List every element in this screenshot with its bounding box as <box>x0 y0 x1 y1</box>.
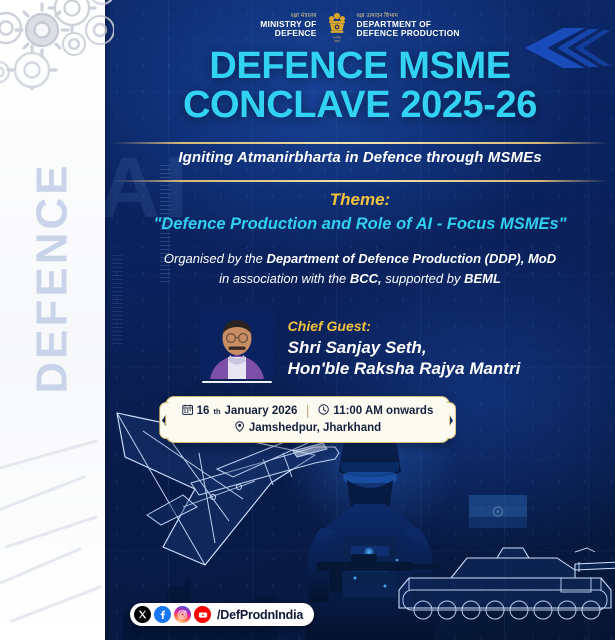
ashoka-emblem-icon: सत्यमेव जयते <box>324 7 350 45</box>
gold-divider-top <box>112 142 609 144</box>
event-date-day: 16 <box>197 405 210 417</box>
org-assoc-prefix: in association with the <box>219 271 350 286</box>
org-beml: BEML <box>464 271 501 286</box>
chief-guest-portrait-icon <box>200 305 274 383</box>
clock-icon <box>318 404 329 418</box>
subtitle: Igniting Atmanirbharta in Defence throug… <box>105 149 615 166</box>
org-supported: supported by <box>382 271 464 286</box>
left-side-band: DEFENCE <box>0 0 105 640</box>
social-handle-bar[interactable]: /DefProdnIndia <box>130 603 314 626</box>
chief-guest-label: Chief Guest: <box>288 318 521 334</box>
event-location-text: Jamshedpur, Jharkhand <box>249 422 381 434</box>
battle-tank-wireframe-icon <box>389 522 615 634</box>
theme-text: "Defence Production and Role of AI - Foc… <box>105 215 615 234</box>
organisers-block: Organised by the Department of Defence P… <box>105 249 615 289</box>
facebook-icon[interactable] <box>154 606 171 623</box>
side-label-text: DEFENCE <box>28 162 78 393</box>
org-ddp: Department of Defence Production (DDP), … <box>267 251 557 266</box>
svg-text:जयते: जयते <box>334 39 340 43</box>
ministry-of-defence-block: रक्षा मंत्रालय MINISTRY OF DEFENCE <box>260 13 316 40</box>
event-time-text: 11:00 AM onwards <box>333 405 433 417</box>
title-line-1: DEFENCE MSME <box>105 48 615 85</box>
event-time: 11:00 AM onwards <box>318 404 433 418</box>
x-twitter-icon[interactable] <box>134 606 151 623</box>
gold-divider-bottom <box>112 180 609 182</box>
ministry-line2: DEFENCE <box>260 29 316 39</box>
location-pin-icon <box>234 421 245 435</box>
org-bcc: BCC, <box>350 271 382 286</box>
event-date-rest: January 2026 <box>225 405 298 417</box>
ministry-header: रक्षा मंत्रालय MINISTRY OF DEFENCE सत्यम… <box>105 4 615 48</box>
chief-guest-block: Chief Guest: Shri Sanjay Seth, Hon'ble R… <box>105 305 615 383</box>
event-date: 16th January 2026 <box>182 404 298 418</box>
badge-separator <box>307 405 308 418</box>
organisers-line-2: in association with the BCC, supported b… <box>105 269 615 289</box>
theme-label: Theme: <box>105 190 615 210</box>
chief-guest-name: Shri Sanjay Seth, <box>288 337 521 358</box>
badge-row-date-time: 16th January 2026 11:00 AM onwards <box>182 404 434 418</box>
title-line-2: CONCLAVE 2025-26 <box>105 87 615 124</box>
speed-streaks-decor <box>0 425 105 640</box>
department-line2: DEFENCE PRODUCTION <box>357 29 460 39</box>
gears-icon <box>0 0 114 90</box>
org-prefix: Organised by the <box>164 251 267 266</box>
poster-root: AI रक्षा मंत्रालय MINISTRY OF DEFENCE <box>0 0 615 640</box>
social-handle-text: /DefProdnIndia <box>217 608 303 622</box>
event-details-badge: 16th January 2026 11:00 AM onwards Jamsh… <box>165 396 451 443</box>
chief-guest-text: Chief Guest: Shri Sanjay Seth, Hon'ble R… <box>288 318 521 383</box>
instagram-icon[interactable] <box>174 606 191 623</box>
organisers-line-1: Organised by the Department of Defence P… <box>105 249 615 269</box>
department-of-defence-production-block: रक्षा उत्पादन विभाग DEPARTMENT OF DEFENC… <box>357 13 460 40</box>
youtube-icon[interactable] <box>194 606 211 623</box>
chief-guest-designation: Hon'ble Raksha Rajya Mantri <box>288 358 521 379</box>
chief-guest-underline <box>202 381 272 383</box>
calendar-icon <box>182 404 193 418</box>
side-label-defence: DEFENCE <box>0 108 105 448</box>
event-date-suffix: th <box>213 407 220 416</box>
page-title: DEFENCE MSME CONCLAVE 2025-26 <box>105 48 615 124</box>
badge-row-location: Jamshedpur, Jharkhand <box>182 421 434 435</box>
